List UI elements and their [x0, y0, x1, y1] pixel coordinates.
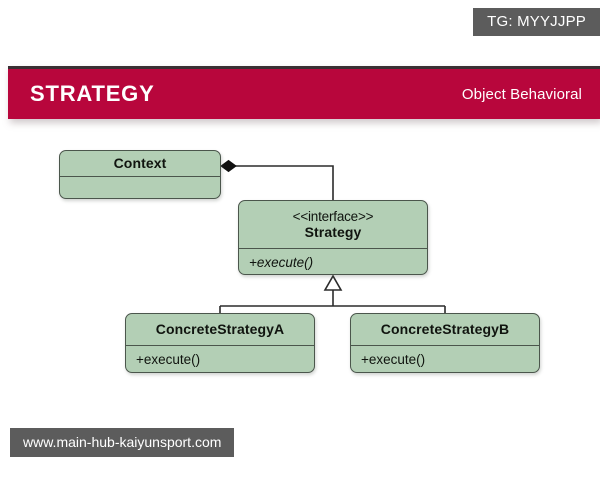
concrete-a-header: ConcreteStrategyA — [126, 314, 314, 345]
strategy-members: +execute() — [239, 249, 427, 275]
concrete-b-members: +execute() — [351, 346, 539, 373]
uml-class-strategy[interactable]: <<interface>> Strategy +execute() — [238, 200, 428, 275]
concrete-b-header: ConcreteStrategyB — [351, 314, 539, 345]
pattern-card: TG: MYYJJPP STRATEGY Object Behavioral — [0, 0, 600, 480]
pattern-title: STRATEGY — [30, 83, 155, 105]
composition-link — [229, 166, 333, 200]
context-header: Context — [60, 151, 220, 176]
uml-class-context[interactable]: Context — [59, 150, 221, 199]
strategy-class-name: Strategy — [305, 224, 362, 241]
telegram-watermark-badge: TG: MYYJJPP — [473, 8, 600, 36]
strategy-header: <<interface>> Strategy — [239, 201, 427, 248]
concrete-b-class-name: ConcreteStrategyB — [381, 321, 510, 338]
concrete-a-members: +execute() — [126, 346, 314, 373]
uml-class-diagram: Context <<interface>> Strategy +execute(… — [0, 126, 600, 426]
concrete-a-class-name: ConcreteStrategyA — [156, 321, 285, 338]
context-class-name: Context — [114, 155, 167, 172]
pattern-banner: STRATEGY Object Behavioral — [8, 66, 600, 119]
composition-diamond-icon — [221, 161, 236, 172]
uml-class-concrete-strategy-b[interactable]: ConcreteStrategyB +execute() — [350, 313, 540, 373]
uml-class-concrete-strategy-a[interactable]: ConcreteStrategyA +execute() — [125, 313, 315, 373]
generalization-triangle-icon — [325, 276, 341, 290]
banner-content: STRATEGY Object Behavioral — [8, 69, 600, 119]
pattern-classification: Object Behavioral — [462, 87, 582, 102]
context-members — [60, 177, 220, 198]
strategy-stereotype: <<interface>> — [293, 209, 374, 224]
site-watermark: www.main-hub-kaiyunsport.com — [10, 428, 234, 457]
